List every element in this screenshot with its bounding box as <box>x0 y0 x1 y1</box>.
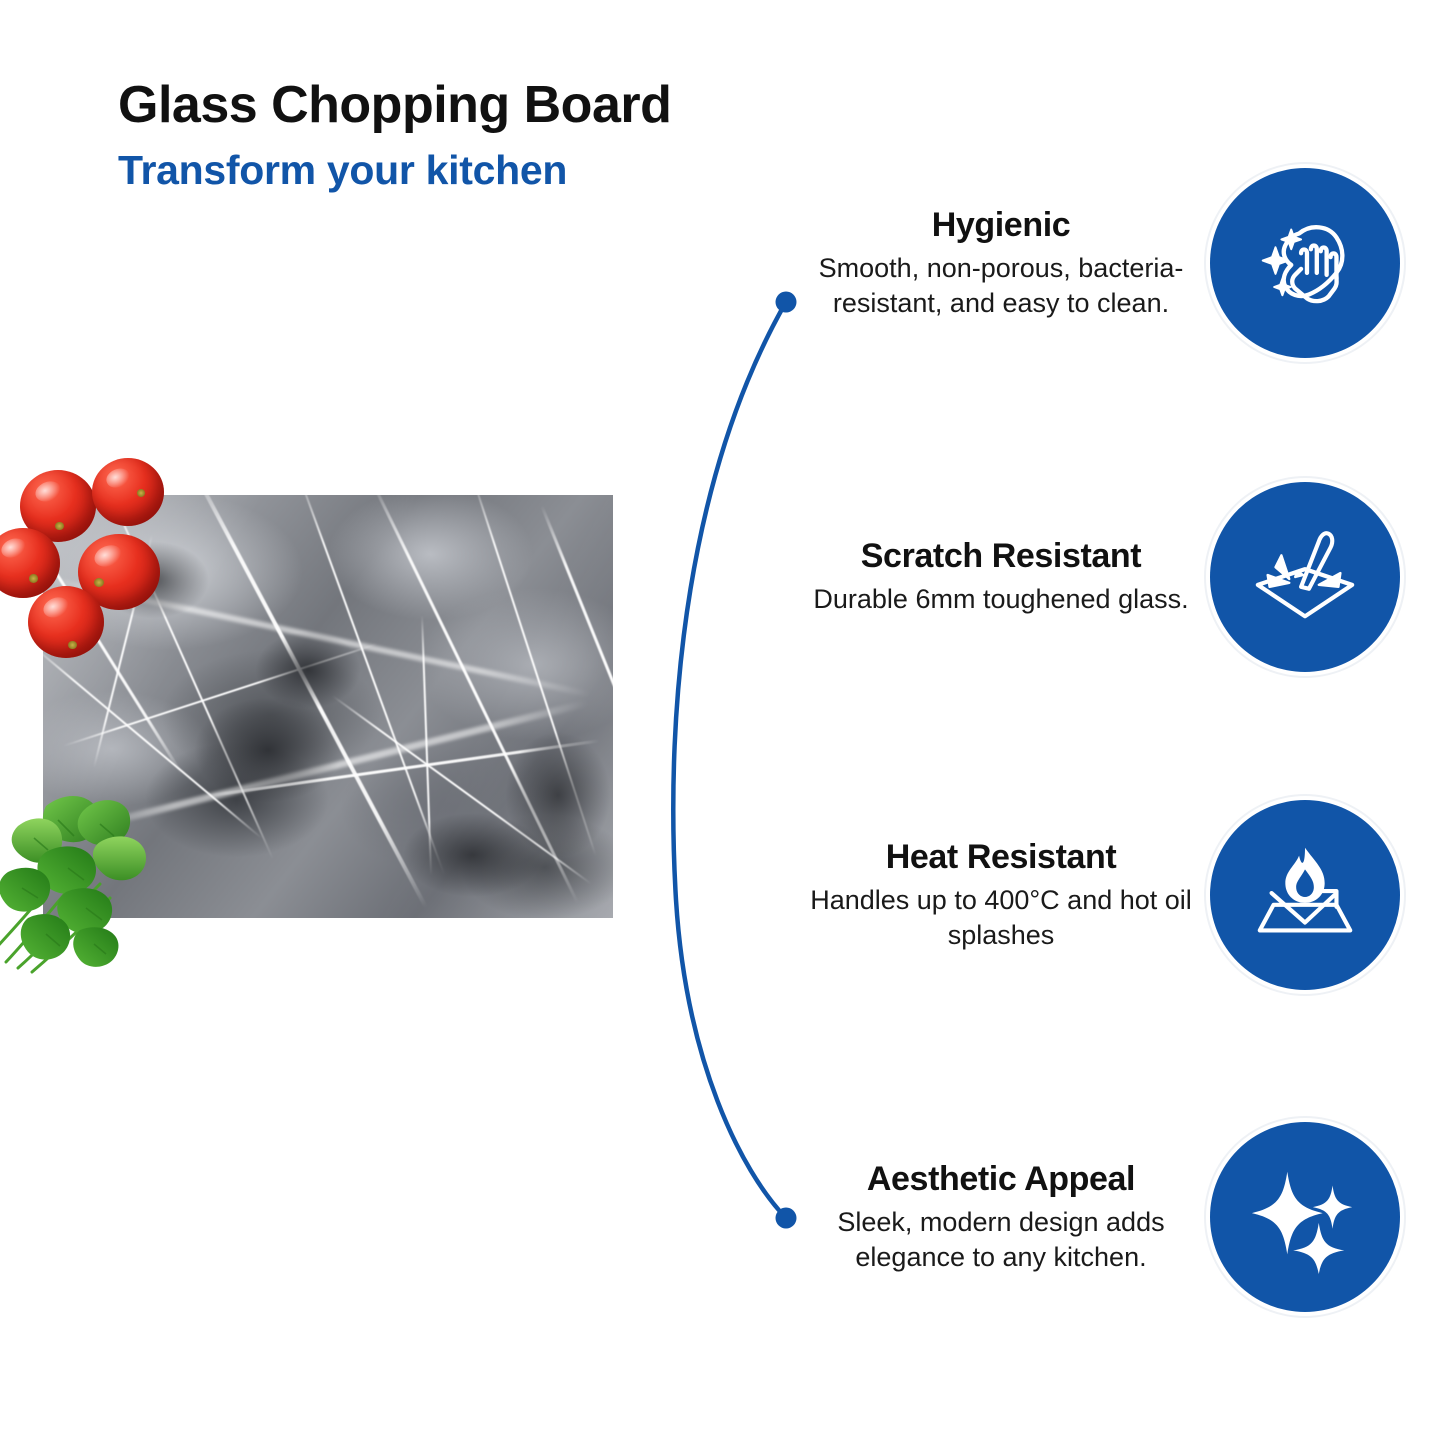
hand-wipe-sparkle-glyph <box>1246 204 1364 322</box>
product-image-stage <box>0 440 660 980</box>
parsley-garnish <box>0 780 198 980</box>
three-sparkles-icon[interactable] <box>1210 1122 1400 1312</box>
feature-title: Aesthetic Appeal <box>810 1160 1192 1199</box>
three-sparkles-glyph <box>1246 1158 1364 1276</box>
feature-text-block: Aesthetic Appeal Sleek, modern design ad… <box>810 1160 1210 1273</box>
cherry-tomato <box>92 458 164 526</box>
knife-impact-plate-icon[interactable] <box>1210 482 1400 672</box>
feature-description: Handles up to 400°C and hot oil splashes <box>810 883 1192 951</box>
feature-hygienic[interactable]: Hygienic Smooth, non-porous, bacteria-re… <box>760 163 1400 363</box>
cherry-tomato <box>28 586 104 658</box>
feature-description: Durable 6mm toughened glass. <box>810 582 1192 616</box>
feature-description: Sleek, modern design adds elegance to an… <box>810 1205 1192 1273</box>
feature-scratch-resistant[interactable]: Scratch Resistant Durable 6mm toughened … <box>760 477 1400 677</box>
connector-path <box>673 302 786 1218</box>
feature-description: Smooth, non-porous, bacteria-resistant, … <box>810 251 1192 319</box>
feature-title: Heat Resistant <box>810 838 1192 877</box>
feature-title: Hygienic <box>810 206 1192 245</box>
knife-impact-plate-glyph <box>1246 518 1364 636</box>
feature-title: Scratch Resistant <box>810 537 1192 576</box>
hand-wipe-sparkle-icon[interactable] <box>1210 168 1400 358</box>
page-title: Glass Chopping Board <box>118 78 918 133</box>
flame-deflect-plate-icon[interactable] <box>1210 800 1400 990</box>
flame-deflect-plate-glyph <box>1246 836 1364 954</box>
marble-dark-patch <box>483 705 613 885</box>
feature-text-block: Heat Resistant Handles up to 400°C and h… <box>810 838 1210 951</box>
feature-text-block: Hygienic Smooth, non-porous, bacteria-re… <box>810 206 1210 319</box>
feature-aesthetic-appeal[interactable]: Aesthetic Appeal Sleek, modern design ad… <box>760 1117 1400 1317</box>
feature-heat-resistant[interactable]: Heat Resistant Handles up to 400°C and h… <box>760 795 1400 995</box>
feature-text-block: Scratch Resistant Durable 6mm toughened … <box>810 537 1210 616</box>
marble-dark-patch <box>233 615 383 725</box>
